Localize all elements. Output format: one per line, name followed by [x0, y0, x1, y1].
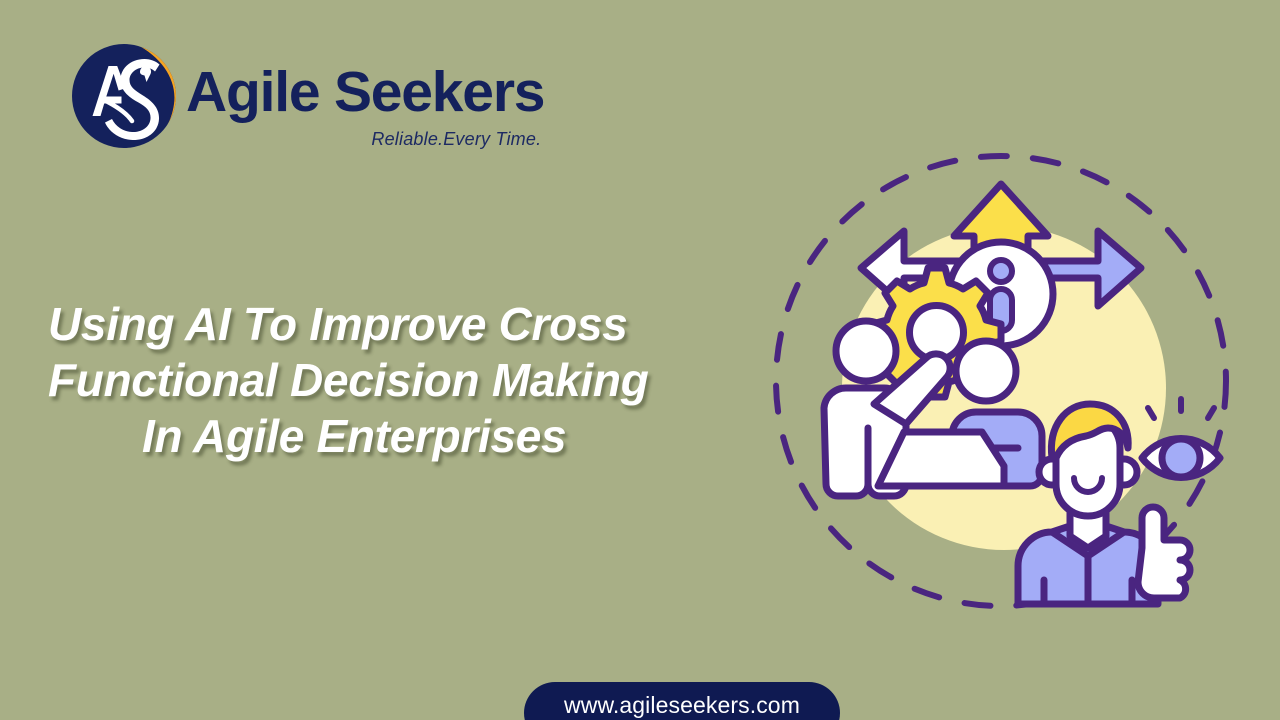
headline-line-1: Using AI To Improve Cross: [48, 296, 708, 352]
pointing-hand-icon: [1138, 507, 1190, 598]
illustration-svg: [756, 136, 1246, 626]
brand-header: Agile Seekers Reliable.Every Time.: [70, 42, 544, 150]
website-url-text: www.agileseekers.com: [564, 689, 800, 720]
cross-functional-ai-decision-making-illustration: [756, 136, 1246, 626]
brand-text-block: Agile Seekers Reliable.Every Time.: [186, 42, 544, 148]
brand-tagline: Reliable.Every Time.: [371, 130, 541, 148]
website-url-pill[interactable]: www.agileseekers.com: [524, 682, 840, 720]
brand-name: Agile Seekers: [186, 64, 544, 121]
headline-line-3: In Agile Enterprises: [48, 408, 708, 464]
agile-seekers-circle-swan-logo-icon: [70, 42, 178, 150]
headline-line-2: Functional Decision Making: [48, 352, 708, 408]
laptop-icon: [878, 432, 1004, 486]
blog-banner: Agile Seekers Reliable.Every Time. Using…: [0, 0, 1280, 720]
headline-block: Using AI To Improve Cross Functional Dec…: [48, 296, 708, 464]
